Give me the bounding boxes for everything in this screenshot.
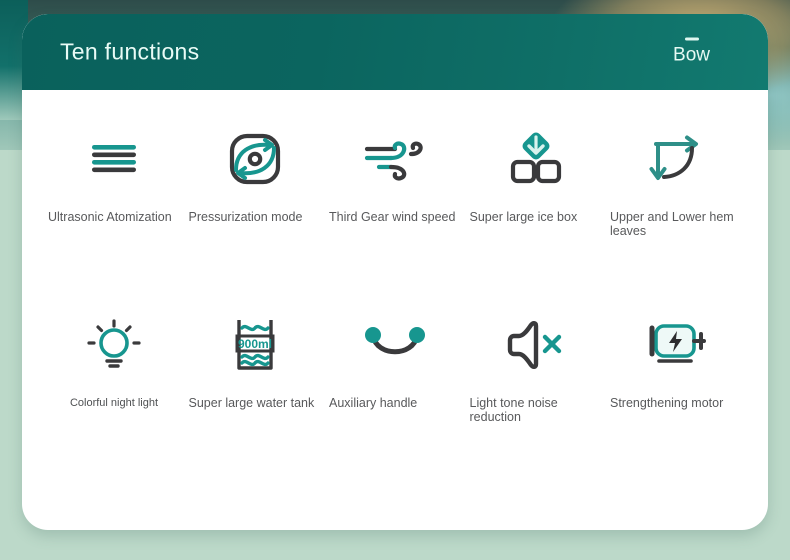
feature-label: Upper and Lower hem leaves bbox=[610, 210, 742, 238]
page-root: Ten functions Bow bbox=[0, 0, 790, 560]
feature-label: Third Gear wind speed bbox=[329, 210, 461, 224]
feature-label: Ultrasonic Atomization bbox=[48, 210, 180, 224]
features-row-2: Colorful night light 900ml bbox=[48, 312, 742, 424]
pressurization-swirl-icon bbox=[215, 126, 295, 192]
feature-item[interactable]: Light tone noise reduction bbox=[470, 312, 602, 424]
wind-speed-icon bbox=[355, 126, 435, 192]
header-right-label-group: Bow bbox=[673, 38, 710, 67]
features-row-1: Ultrasonic Atomization P bbox=[48, 126, 742, 238]
water-tank-capacity-text: 900ml bbox=[237, 337, 271, 351]
ultrasonic-bars-icon bbox=[74, 126, 154, 192]
feature-label: Colorful night light bbox=[48, 396, 180, 410]
feature-item[interactable]: Colorful night light bbox=[48, 312, 180, 410]
feature-item[interactable]: Super large ice box bbox=[470, 126, 602, 224]
features-grid: Ultrasonic Atomization P bbox=[22, 90, 768, 424]
feature-item[interactable]: Upper and Lower hem leaves bbox=[610, 126, 742, 238]
water-tank-icon: 900ml bbox=[215, 312, 295, 378]
hem-leaves-arrows-icon bbox=[636, 126, 716, 192]
ice-box-icon bbox=[496, 126, 576, 192]
feature-label: Super large ice box bbox=[470, 210, 602, 224]
feature-label: Super large water tank bbox=[189, 396, 321, 410]
page-title: Ten functions bbox=[60, 39, 199, 66]
feature-card: Ten functions Bow bbox=[22, 14, 768, 530]
feature-label: Pressurization mode bbox=[189, 210, 321, 224]
card-header: Ten functions Bow bbox=[22, 14, 768, 90]
feature-item[interactable]: Strengthening motor bbox=[610, 312, 742, 410]
feature-item[interactable]: Ultrasonic Atomization bbox=[48, 126, 180, 224]
motor-bolt-icon bbox=[636, 312, 716, 378]
feature-item[interactable]: Third Gear wind speed bbox=[329, 126, 461, 224]
feature-label: Light tone noise reduction bbox=[470, 396, 602, 424]
clipped-glyph-icon bbox=[685, 38, 699, 41]
feature-label: Strengthening motor bbox=[610, 396, 742, 410]
night-light-bulb-icon bbox=[74, 312, 154, 378]
feature-item[interactable]: Auxiliary handle bbox=[329, 312, 461, 410]
header-right-label: Bow bbox=[673, 45, 710, 66]
feature-item[interactable]: Pressurization mode bbox=[189, 126, 321, 224]
auxiliary-handle-icon bbox=[355, 312, 435, 378]
feature-item[interactable]: 900ml Super large water tank bbox=[189, 312, 321, 410]
mute-speaker-icon bbox=[496, 312, 576, 378]
feature-label: Auxiliary handle bbox=[329, 396, 461, 410]
